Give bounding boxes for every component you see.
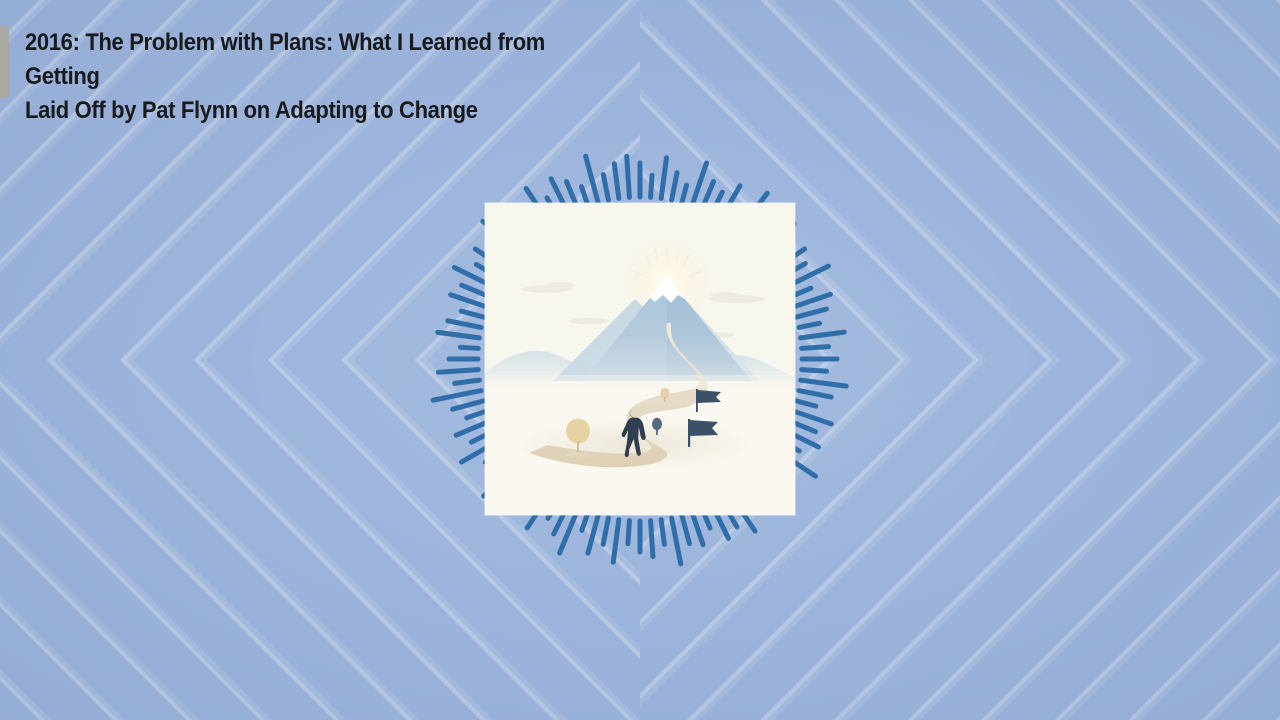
visualizer-bar	[796, 309, 826, 317]
visualizer-bar	[682, 515, 690, 543]
visualizer-bar	[453, 401, 484, 409]
visualizer-bar	[588, 515, 598, 553]
visualizer-bar	[801, 332, 845, 338]
visualizer-bar	[661, 520, 664, 545]
visualizer-bar	[672, 173, 677, 200]
visualizer-bar	[586, 156, 598, 202]
visualizer-bar	[448, 321, 481, 328]
visualizer-bar	[802, 347, 829, 349]
episode-cover-art	[485, 203, 795, 515]
page-title: 2016: The Problem with Plans: What I Lea…	[25, 26, 574, 128]
episode-title-line-2: Laid Off by Pat Flynn on Adapting to Cha…	[25, 94, 574, 128]
visualizer-bar	[793, 411, 831, 424]
visualizer-bar	[801, 380, 847, 386]
visualizer-bar	[651, 175, 652, 197]
visualizer-bar	[582, 512, 588, 530]
title-accent-bar	[0, 26, 9, 98]
visualizer-bar	[455, 380, 480, 383]
visualizer-bar	[467, 411, 487, 418]
visualizer-bar	[433, 391, 481, 401]
visualizer-bar	[451, 295, 487, 307]
visualizer-bar	[438, 332, 480, 337]
visualizer-bar	[802, 370, 827, 372]
visualizer-bar	[682, 185, 687, 202]
visualizer-bar	[613, 520, 619, 563]
visualizer-bar	[603, 175, 608, 201]
visualizer-bar	[692, 512, 703, 544]
episode-title-line-1: 2016: The Problem with Plans: What I Lea…	[25, 26, 574, 94]
visualizer-bar	[614, 164, 619, 199]
visualizer-bar	[460, 347, 478, 348]
visualizer-bar	[672, 518, 681, 564]
visualizer-bar	[661, 158, 666, 199]
visualizer-bar	[799, 391, 831, 397]
visualizer-bar	[603, 518, 608, 544]
cover-art-illustration	[485, 203, 795, 515]
episode-title-block: 2016: The Problem with Plans: What I Lea…	[0, 26, 625, 128]
visualizer-bar	[793, 294, 830, 307]
visualizer-bar	[438, 370, 478, 373]
visualizer-bar	[651, 521, 653, 557]
video-frame: 2016: The Problem with Plans: What I Lea…	[0, 0, 1280, 720]
horizon-haze	[485, 375, 795, 389]
visualizer-bar	[796, 401, 815, 406]
visualizer-bar	[799, 323, 820, 327]
visualizer-bar	[461, 311, 483, 317]
visualizer-bar	[627, 156, 630, 197]
visualizer-bar	[628, 521, 630, 544]
